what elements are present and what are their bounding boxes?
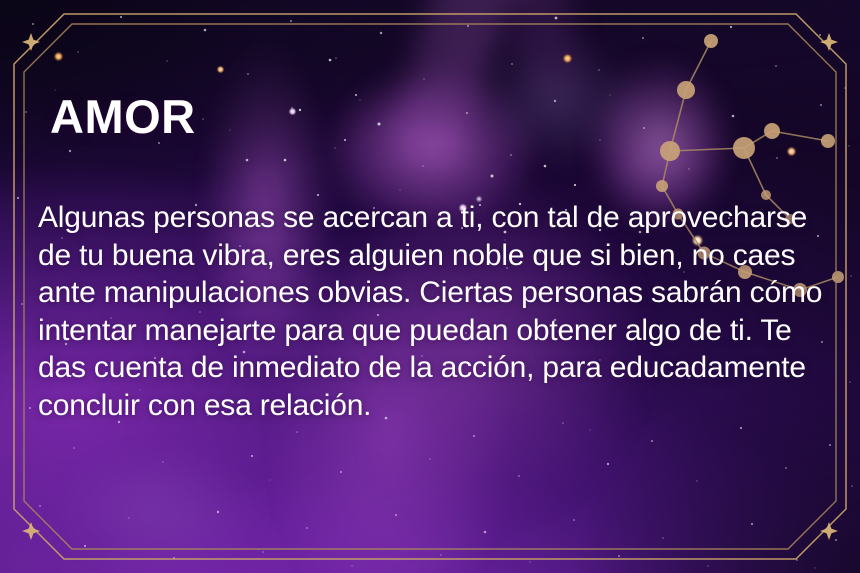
beacon-star-4 xyxy=(563,54,572,63)
beacon-star-6 xyxy=(787,147,796,156)
beacon-star-2 xyxy=(217,66,224,73)
beacon-star-1 xyxy=(54,52,63,61)
horoscope-card: AMOR Algunas personas se acercan a ti, c… xyxy=(0,0,860,573)
page-title: AMOR xyxy=(50,93,196,140)
beacon-star-3 xyxy=(289,108,296,115)
horoscope-body-text: Algunas personas se acercan a ti, con ta… xyxy=(38,199,828,424)
